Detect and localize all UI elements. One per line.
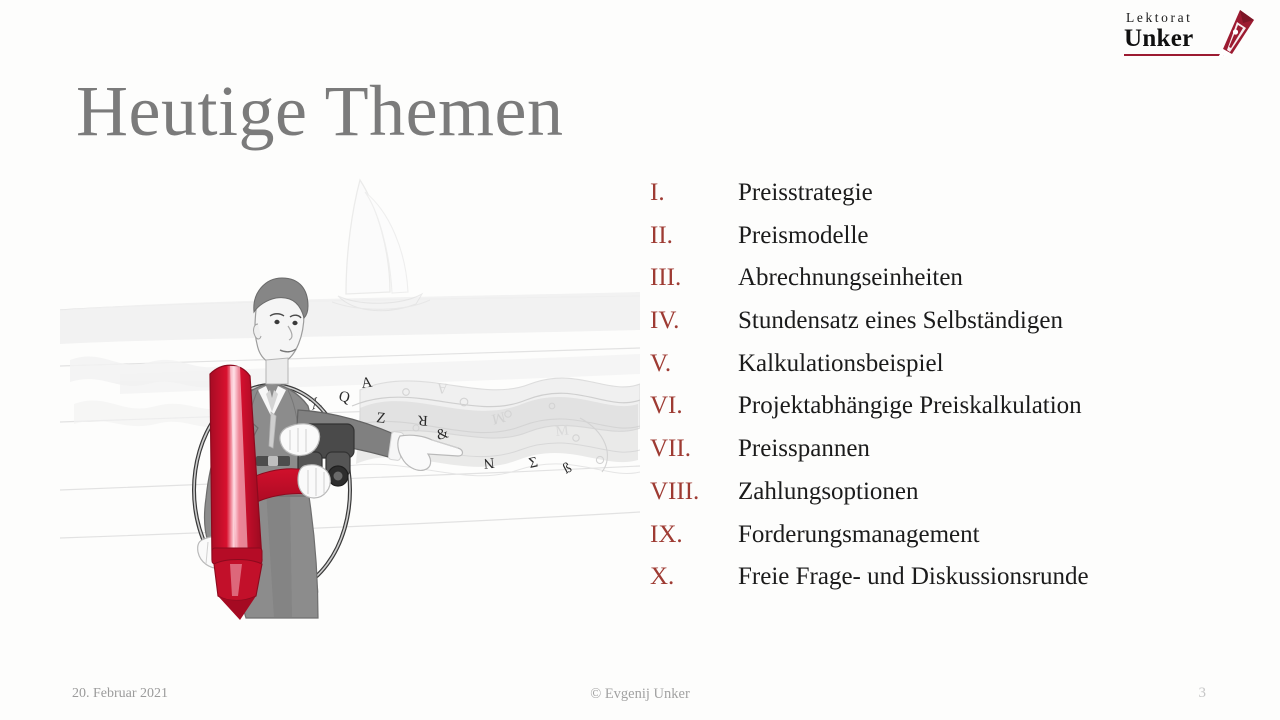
list-item[interactable]: VI. Projektabhängige Preiskalkulation [650, 385, 1250, 428]
list-item-label: Abrechnungseinheiten [738, 257, 963, 300]
list-item-label: Projektabhängige Preiskalkulation [738, 385, 1082, 428]
list-item[interactable]: V. Kalkulationsbeispiel [650, 343, 1250, 386]
list-item[interactable]: VII. Preisspannen [650, 428, 1250, 471]
brand-logo: Lektorat Unker [1124, 8, 1254, 60]
logo-line-lektorat: Lektorat [1124, 10, 1222, 26]
list-item-label: Zahlungsoptionen [738, 471, 919, 514]
page-title: Heutige Themen [76, 68, 564, 154]
list-item-numeral: VIII. [650, 471, 738, 514]
list-item[interactable]: III. Abrechnungseinheiten [650, 257, 1250, 300]
list-item[interactable]: IX. Forderungsmanagement [650, 514, 1250, 557]
list-item-label: Kalkulationsbeispiel [738, 343, 944, 386]
svg-text:Z: Z [376, 410, 387, 427]
list-item-label: Freie Frage- und Diskussionsrunde [738, 556, 1089, 599]
slide-number: 3 [1199, 685, 1207, 702]
list-item-numeral: I. [650, 172, 738, 215]
agenda-list: I. Preisstrategie II. Preismodelle III. … [650, 172, 1250, 599]
logo-line-unker: Unker [1124, 26, 1222, 51]
presentation-slide: Lektorat Unker Heutige Themen [0, 0, 1280, 720]
list-item-numeral: VI. [650, 385, 738, 428]
sailboat-silhouette [332, 180, 430, 311]
list-item[interactable]: X. Freie Frage- und Diskussionsrunde [650, 556, 1250, 599]
list-item-numeral: III. [650, 257, 738, 300]
list-item[interactable]: IV. Stundensatz eines Selbständigen [650, 300, 1250, 343]
svg-text:R: R [418, 412, 429, 428]
list-item[interactable]: VIII. Zahlungsoptionen [650, 471, 1250, 514]
list-item-numeral: II. [650, 215, 738, 258]
list-item-numeral: IV. [650, 300, 738, 343]
svg-text:N: N [483, 454, 496, 471]
svg-text:Q: Q [337, 388, 352, 406]
list-item-label: Preismodelle [738, 215, 869, 258]
list-item-label: Preisstrategie [738, 172, 873, 215]
logo-wordmark: Lektorat Unker [1124, 10, 1222, 51]
list-item-numeral: IX. [650, 514, 738, 557]
list-item-label: Preisspannen [738, 428, 870, 471]
svg-text:M: M [555, 422, 570, 440]
svg-text:A: A [436, 379, 448, 396]
list-item-numeral: VII. [650, 428, 738, 471]
footer-copyright: © Evgenij Unker [0, 686, 1280, 703]
list-item-label: Forderungsmanagement [738, 514, 980, 557]
svg-text:Σ: Σ [528, 454, 540, 471]
captain-with-red-fountain-pen-illustration: A Q X Z R & N Σ ß M A M [60, 160, 640, 620]
list-item-numeral: X. [650, 556, 738, 599]
list-item[interactable]: II. Preismodelle [650, 215, 1250, 258]
logo-underline [1124, 54, 1224, 56]
list-item-numeral: V. [650, 343, 738, 386]
list-item[interactable]: I. Preisstrategie [650, 172, 1250, 215]
fountain-pen-nib-icon [1210, 8, 1256, 60]
list-item-label: Stundensatz eines Selbständigen [738, 300, 1063, 343]
